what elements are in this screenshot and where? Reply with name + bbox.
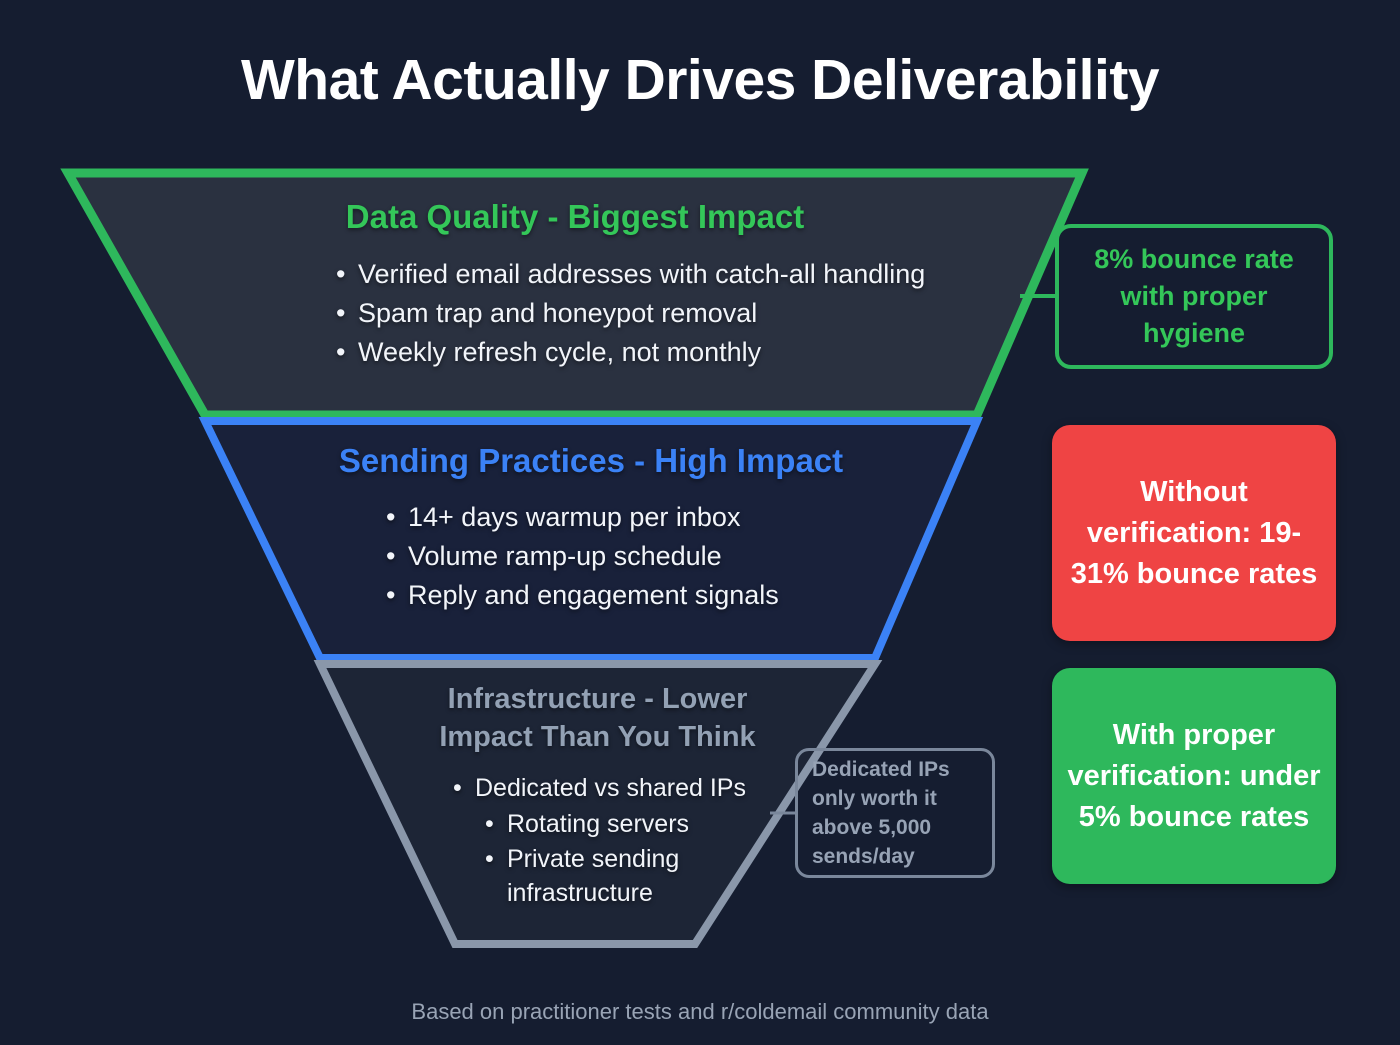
tier-1-bullet-list: Verified email addresses with catch-all … <box>358 255 1082 372</box>
tier-2-bullet-list: 14+ days warmup per inbox Volume ramp-up… <box>408 498 977 615</box>
tier-1-title: Data Quality - Biggest Impact <box>68 196 1082 238</box>
list-item: Reply and engagement signals <box>408 576 977 615</box>
infographic-canvas: What Actually Drives Deliverability Data… <box>0 0 1400 1045</box>
list-item: 14+ days warmup per inbox <box>408 498 977 537</box>
list-item: Volume ramp-up schedule <box>408 537 977 576</box>
funnel-tier-1-content: Data Quality - Biggest Impact Verified e… <box>68 196 1082 372</box>
callout-dedicated-ips-threshold: Dedicated IPs only worth it above 5,000 … <box>795 748 995 878</box>
tier-3-title-line-1: Infrastructure - Lower <box>320 680 875 718</box>
list-item: Spam trap and honeypot removal <box>358 294 1082 333</box>
tier-3-title-line-2: Impact Than You Think <box>320 718 875 756</box>
list-item: Private sending infrastructure <box>507 842 717 910</box>
source-footnote: Based on practitioner tests and r/coldem… <box>0 997 1400 1027</box>
tier-2-title: Sending Practices - High Impact <box>205 440 977 482</box>
callout-with-proper-verification: With proper verification: under 5% bounc… <box>1052 668 1336 884</box>
funnel-tier-2-content: Sending Practices - High Impact 14+ days… <box>205 440 977 615</box>
callout-bounce-rate-with-hygiene: 8% bounce rate with proper hygiene <box>1055 224 1333 369</box>
funnel-tier-3-content: Infrastructure - Lower Impact Than You T… <box>320 680 875 910</box>
list-item: Verified email addresses with catch-all … <box>358 255 1082 294</box>
callout-without-verification: Without verification: 19-31% bounce rate… <box>1052 425 1336 641</box>
list-item: Weekly refresh cycle, not monthly <box>358 333 1082 372</box>
